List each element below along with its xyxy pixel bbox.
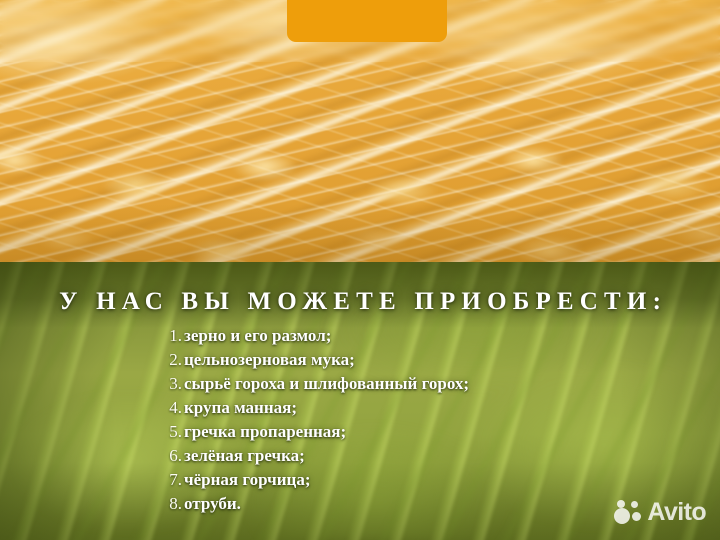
list-item-label: цельнозерновая мука; (184, 350, 355, 370)
green-panel: У НАС ВЫ МОЖЕТЕ ПРИОБРЕСТИ: 1. зерно и е… (0, 262, 720, 540)
list-item: 6. зелёная гречка; (0, 446, 720, 470)
wheat-bottom-shadow (0, 204, 720, 262)
list-item-label: отруби. (184, 494, 241, 514)
orange-badge (287, 0, 447, 42)
avito-dot-upper-right (631, 501, 638, 508)
list-item-number: 2. (160, 350, 182, 370)
product-list: 1. зерно и его размол; 2. цельнозерновая… (0, 326, 720, 518)
list-item-number: 6. (160, 446, 182, 466)
list-item-number: 1. (160, 326, 182, 346)
list-item-label: зерно и его размол; (184, 326, 331, 346)
list-item: 3. сырьё гороха и шлифованный горох; (0, 374, 720, 398)
avito-dot-lower-right (632, 512, 641, 521)
panel-content: У НАС ВЫ МОЖЕТЕ ПРИОБРЕСТИ: 1. зерно и е… (0, 262, 720, 540)
avito-wordmark: Avito (647, 500, 706, 525)
list-item-label: зелёная гречка; (184, 446, 305, 466)
list-item-label: чёрная горчица; (184, 470, 311, 490)
list-item-number: 4. (160, 398, 182, 418)
list-item: 2. цельнозерновая мука; (0, 350, 720, 374)
avito-watermark: Avito (614, 497, 706, 527)
list-item-number: 5. (160, 422, 182, 442)
panel-heading: У НАС ВЫ МОЖЕТЕ ПРИОБРЕСТИ: (0, 288, 720, 316)
list-item: 1. зерно и его размол; (0, 326, 720, 350)
list-item-number: 8. (160, 494, 182, 514)
list-item: 7. чёрная горчица; (0, 470, 720, 494)
avito-dot-large (614, 508, 630, 524)
poster: У НАС ВЫ МОЖЕТЕ ПРИОБРЕСТИ: 1. зерно и е… (0, 0, 720, 540)
list-item-number: 7. (160, 470, 182, 490)
list-item: 4. крупа манная; (0, 398, 720, 422)
list-item-label: гречка пропаренная; (184, 422, 346, 442)
list-item-label: сырьё гороха и шлифованный горох; (184, 374, 469, 394)
avito-logo-icon (614, 500, 642, 524)
list-item: 5. гречка пропаренная; (0, 422, 720, 446)
list-item-label: крупа манная; (184, 398, 297, 418)
avito-dot-top (617, 500, 625, 508)
list-item-number: 3. (160, 374, 182, 394)
list-item: 8. отруби. (0, 494, 720, 518)
